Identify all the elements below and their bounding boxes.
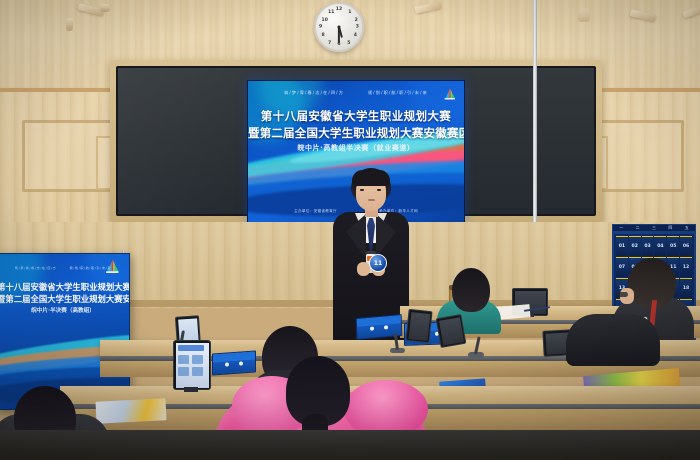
lecture-hall-photo: 12 3 6 9 1 2 4 5 7 8 10 11 筑: [0, 0, 700, 460]
number-board-header: 一 二 三 四 五: [612, 224, 696, 232]
contestant-number-badge: 11: [369, 254, 387, 272]
clock-tick-3: 3: [356, 25, 359, 30]
clock-tick-12: 12: [336, 7, 342, 12]
clock-tick-9: 9: [319, 25, 322, 30]
number-cell: 12: [680, 257, 692, 277]
number-cell: 04: [654, 236, 666, 256]
tablet-front-left: [173, 340, 211, 390]
name-placard-3: [212, 350, 256, 375]
wall-clock: 12 3 6 9 1 2 4 5 7 8 10 11: [314, 2, 364, 52]
banner-title-line2: 暨第二届全国大学生职业规划大赛安徽赛区: [0, 293, 129, 305]
floor: [0, 430, 700, 460]
nb-head-4: 四: [668, 225, 672, 231]
nb-head-2: 二: [636, 225, 640, 231]
number-cell: 03: [642, 236, 654, 256]
led-top-tags: 筑/梦/青/春/志/在/四/方 规/划/职/航/职/引/未/来: [248, 90, 464, 96]
number-cell: 18: [680, 278, 692, 298]
audience-black-jacket: [566, 314, 660, 366]
led-subtitle: 皖中片·高教组半决赛（就业赛道）: [248, 143, 464, 153]
tablet-mid-2: [405, 309, 432, 343]
clock-tick-7: 7: [328, 41, 331, 46]
clock-tick-4: 4: [354, 33, 357, 38]
banner-subtitle: 皖中片·半决赛（高教组）: [0, 306, 129, 314]
glasses-icon: [618, 292, 628, 297]
led-tag-right: 规/划/职/航/职/引/未/来: [368, 90, 428, 96]
wall-speaker-1: [66, 18, 73, 31]
led-title-line2: 暨第二届全国大学生职业规划大赛安徽赛区: [248, 125, 464, 141]
clock-tick-2: 2: [355, 18, 358, 23]
speaker-fringe: [352, 170, 390, 186]
audience-teal-head: [452, 268, 490, 312]
clock-tick-5: 5: [347, 41, 350, 46]
sail-logo-icon: [442, 87, 457, 102]
clock-tick-8: 8: [322, 33, 325, 38]
speaker-mouth: [368, 199, 375, 201]
banner-tag-right: 规/划/职/航/职/引/未/来: [70, 266, 112, 270]
number-cell: 02: [629, 236, 641, 256]
screen-pull-rod: [533, 0, 537, 232]
number-cell: 01: [616, 236, 628, 256]
number-cell: 05: [667, 236, 679, 256]
banner-tag-left: 筑/梦/青/春/志/在/四/方: [15, 266, 57, 270]
desk-flyer-left: [95, 398, 166, 424]
nb-head-1: 一: [619, 225, 623, 231]
speaker-eye-right: [377, 189, 381, 191]
led-tag-left: 筑/梦/青/春/志/在/四/方: [284, 90, 344, 96]
banner-title-line1: 第十八届安徽省大学生职业规划大赛: [0, 281, 129, 293]
led-title-line1: 第十八届安徽省大学生职业规划大赛: [248, 108, 464, 124]
nb-head-3: 三: [652, 225, 656, 231]
clock-tick-1: 1: [348, 10, 351, 15]
clock-center-pin: [338, 26, 341, 29]
number-cell: 07: [616, 257, 628, 277]
nb-head-5: 五: [685, 225, 689, 231]
tablet-stand-front: [184, 387, 198, 392]
wall-mount-1: [100, 4, 110, 12]
clock-tick-10: 10: [322, 18, 328, 23]
wall-vent: [578, 8, 590, 22]
clock-minute-hand: [338, 27, 340, 44]
banner-top-tags: 筑/梦/青/春/志/在/四/方 规/划/职/航/职/引/未/来: [0, 266, 129, 270]
clock-tick-11: 11: [328, 10, 334, 15]
speaker-eye-left: [360, 189, 364, 191]
tablet-mid-3: [436, 314, 467, 348]
number-cell: 06: [680, 236, 692, 256]
speaker-hand-left: [357, 262, 370, 276]
